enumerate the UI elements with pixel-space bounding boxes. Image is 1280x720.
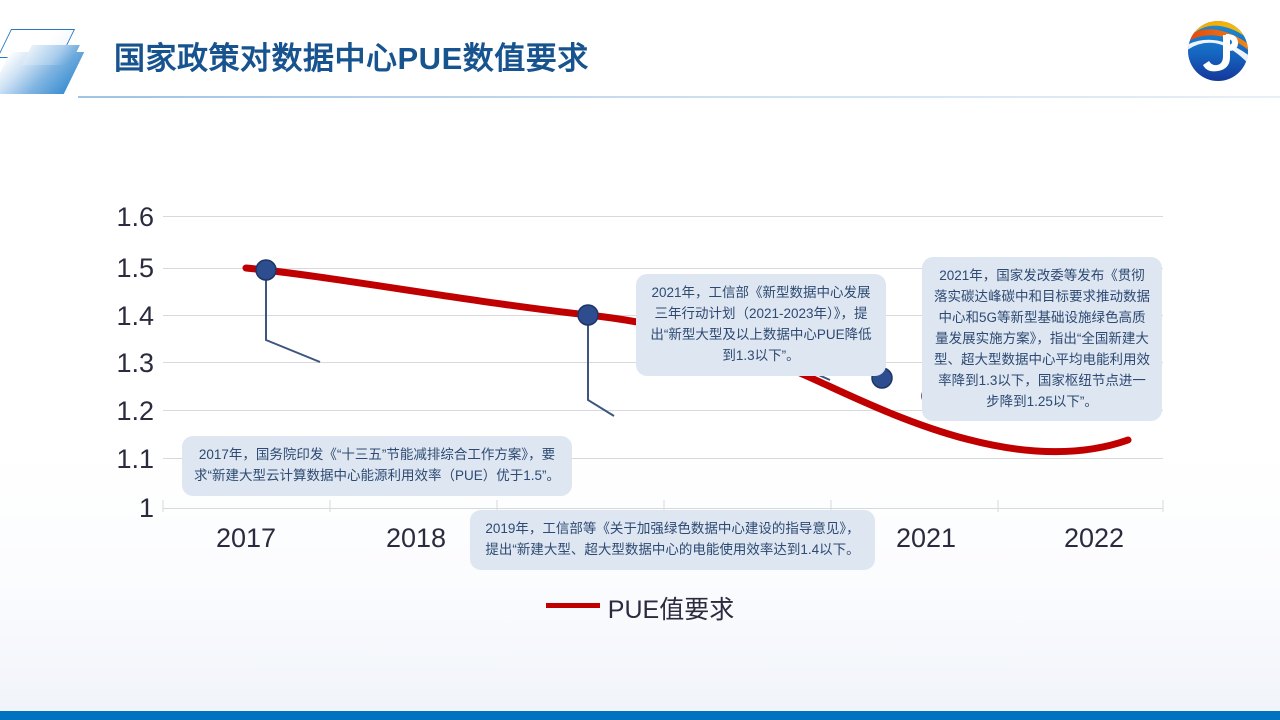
callout-2017: 2017年，国务院印发《“十三五”节能减排综合工作方案》，要求“新建大型云计算数… xyxy=(182,436,572,496)
callout-2021-ndrc: 2021年，国家发改委等发布《贯彻落实碳达峰碳中和目标要求推动数据中心和5G等新… xyxy=(922,257,1162,421)
company-globe-logo xyxy=(1180,13,1256,89)
page-title: 国家政策对数据中心PUE数值要求 xyxy=(114,33,589,78)
footer-accent-bar xyxy=(0,711,1280,720)
chart-legend: PUE值要求 xyxy=(0,590,1280,626)
legend-label-pue: PUE值要求 xyxy=(608,590,734,626)
header-divider xyxy=(78,96,1280,98)
slide-canvas: 国家政策对数据中心PUE数值要求 xyxy=(0,0,1280,720)
callout-2019: 2019年，工信部等《关于加强绿色数据中心建设的指导意见》，提出“新建大型、超大… xyxy=(470,510,875,570)
header-decoration-shape-secondary xyxy=(22,45,80,65)
legend-swatch-pue xyxy=(546,603,600,608)
pue-line-chart: 1.6 1.5 1.4 1.3 1.2 1.1 1 2017 2018 2019… xyxy=(0,100,1280,660)
slide-header: 国家政策对数据中心PUE数值要求 xyxy=(0,0,1280,100)
callout-2021-miit: 2021年，工信部《新型数据中心发展三年行动计划（2021-2023年）》，提出… xyxy=(636,274,886,376)
